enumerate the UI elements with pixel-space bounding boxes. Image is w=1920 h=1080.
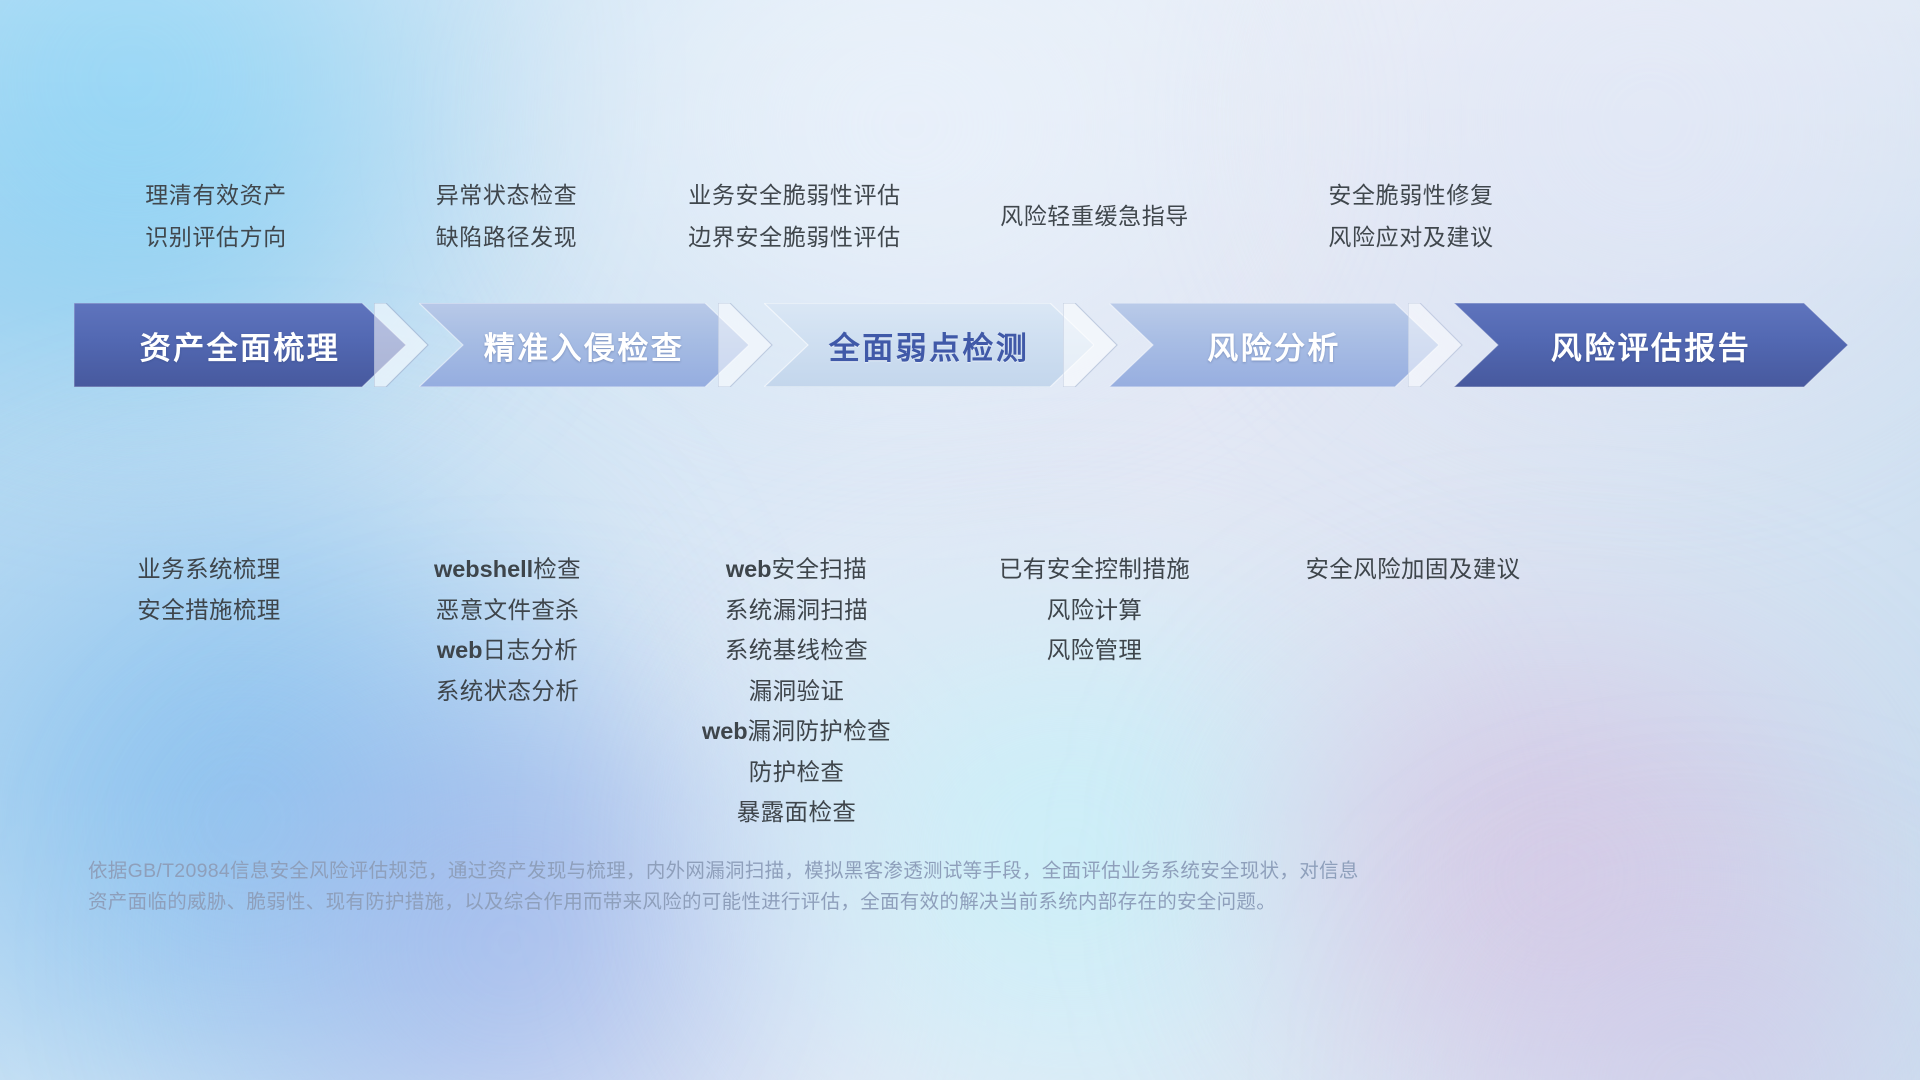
detail-emphasis: web [702,718,748,744]
top-item: 风险应对及建议 [1241,226,1581,249]
footer-line-2: 资产面临的威胁、脆弱性、现有防护措施，以及综合作用而带来风险的可能性进行评估，全… [88,887,1648,918]
stage-chevron-risk-analysis[interactable]: 风险分析 [1109,303,1439,387]
detail-text: 风险计算 [1047,597,1143,623]
footer-line-1: 依据GB/T20984信息安全风险评估规范，通过资产发现与梳理，内外网漏洞扫描，… [88,856,1648,887]
top-item: 理清有效资产 [66,184,366,207]
stage-label: 风险分析 [1207,323,1341,368]
detail-item: web日志分析 [365,639,650,663]
top-column-risk-analysis: 风险轻重缓急指导 [942,184,1227,249]
detail-text: 检查 [533,556,581,582]
detail-text: 系统状态分析 [436,678,579,704]
detail-text: 系统漏洞扫描 [725,597,868,623]
detail-item: webshell检查 [365,558,650,582]
detail-item: 系统漏洞扫描 [654,599,939,623]
top-column-intrusion-check: 异常状态检查 缺陷路径发现 [372,184,657,249]
detail-item: web安全扫描 [654,558,939,582]
stage-label: 资产全面梳理 [140,323,340,368]
detail-item: 已有安全控制措施 [952,558,1237,582]
detail-item: 风险计算 [952,599,1237,623]
detail-emphasis: webshell [434,556,533,582]
top-column-asset-inventory: 理清有效资产 识别评估方向 [72,184,372,249]
detail-text: 防护检查 [749,759,845,785]
bottom-column-asset-inventory: 业务系统梳理 安全措施梳理 [72,558,372,825]
top-item: 业务安全脆弱性评估 [652,184,937,207]
detail-item: 防护检查 [654,761,939,785]
top-descriptor-row: 理清有效资产 识别评估方向 异常状态检查 缺陷路径发现 业务安全脆弱性评估 边界… [72,184,1848,249]
detail-text: 安全风险加固及建议 [1305,556,1520,582]
detail-text: 暴露面检查 [737,799,857,825]
stage-chevron-risk-report[interactable]: 风险评估报告 [1454,303,1848,387]
detail-text: 业务系统梳理 [137,556,280,582]
detail-item: 系统基线检查 [654,639,939,663]
detail-emphasis: web [437,637,483,663]
bottom-detail-row: 业务系统梳理 安全措施梳理 webshell检查 恶意文件查杀 web日志分析 … [72,558,1848,825]
detail-item: 系统状态分析 [365,680,650,704]
detail-item: web漏洞防护检查 [654,720,939,744]
detail-text: 漏洞防护检查 [748,718,891,744]
top-column-weakness-detection: 业务安全脆弱性评估 边界安全脆弱性评估 [657,184,942,249]
detail-item: 漏洞验证 [654,680,939,704]
top-item: 边界安全脆弱性评估 [652,226,937,249]
detail-item: 暴露面检查 [654,801,939,825]
bottom-column-intrusion-check: webshell检查 恶意文件查杀 web日志分析 系统状态分析 [372,558,657,825]
detail-text: 安全扫描 [772,556,868,582]
detail-emphasis: web [726,556,772,582]
bottom-column-risk-report: 安全风险加固及建议 [1227,558,1567,825]
detail-text: 漏洞验证 [749,678,845,704]
process-chevron-band: 资产全面梳理 精准入侵检查 [74,303,1848,387]
footer-description: 依据GB/T20984信息安全风险评估规范，通过资产发现与梳理，内外网漏洞扫描，… [88,856,1648,918]
top-item: 异常状态检查 [364,184,649,207]
detail-item: 安全风险加固及建议 [1243,558,1583,582]
detail-text: 恶意文件查杀 [436,597,579,623]
detail-text: 日志分析 [483,637,579,663]
bottom-column-weakness-detection: web安全扫描 系统漏洞扫描 系统基线检查 漏洞验证 web漏洞防护检查 防护检… [657,558,942,825]
detail-item: 业务系统梳理 [59,558,359,582]
top-column-risk-report: 安全脆弱性修复 风险应对及建议 [1227,184,1567,249]
stage-label: 风险评估报告 [1551,323,1751,368]
top-item: 缺陷路径发现 [364,226,649,249]
detail-item: 风险管理 [952,639,1237,663]
stage-chevron-asset-inventory[interactable]: 资产全面梳理 [74,303,406,387]
detail-item: 恶意文件查杀 [365,599,650,623]
top-item: 安全脆弱性修复 [1241,184,1581,207]
stage-label: 全面弱点检测 [829,323,1029,368]
top-item: 识别评估方向 [66,226,366,249]
bottom-column-risk-analysis: 已有安全控制措施 风险计算 风险管理 [942,558,1227,825]
stage-chevron-intrusion-check[interactable]: 精准入侵检查 [419,303,749,387]
detail-text: 安全措施梳理 [137,597,280,623]
stage-chevron-weakness-detection[interactable]: 全面弱点检测 [764,303,1094,387]
detail-item: 安全措施梳理 [59,599,359,623]
detail-text: 已有安全控制措施 [999,556,1190,582]
detail-text: 风险管理 [1047,637,1143,663]
stage-label: 精准入侵检查 [484,323,684,368]
top-item: 风险轻重缓急指导 [952,205,1237,228]
detail-text: 系统基线检查 [725,637,868,663]
